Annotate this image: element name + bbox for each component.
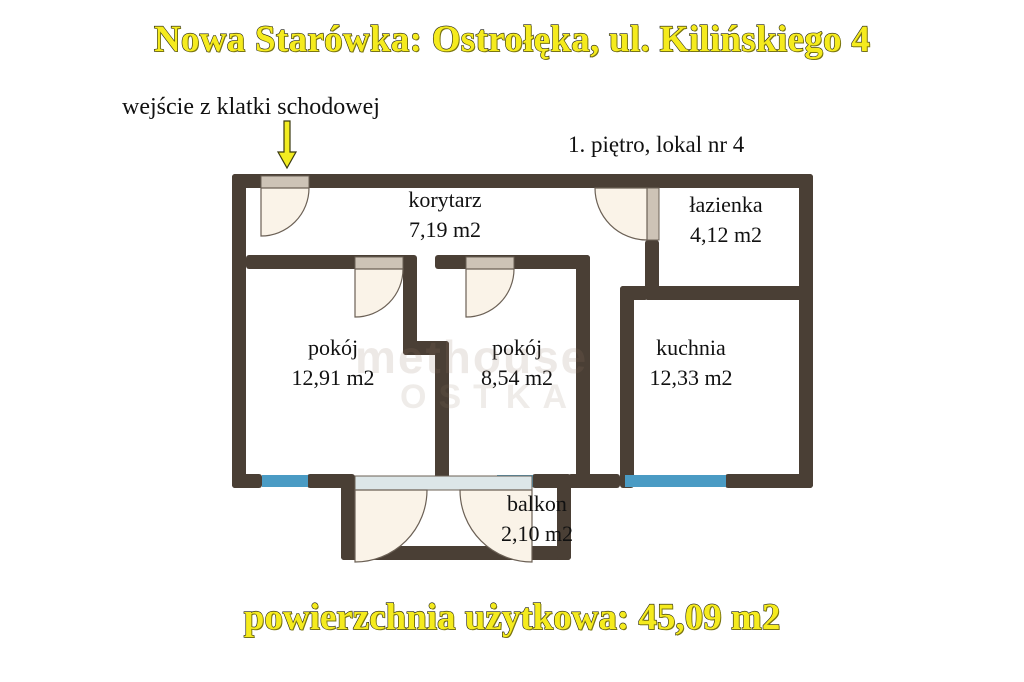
door-entrance	[261, 176, 309, 236]
total-area-title: powierzchnia użytkowa: 45,09 m2	[0, 596, 1024, 639]
door-pokoj2	[466, 257, 514, 317]
window-pokoj1	[262, 475, 308, 487]
door-pokoj1	[355, 257, 403, 317]
entrance-arrow-icon	[278, 121, 296, 168]
window-kuchnia	[625, 475, 726, 487]
floorplan-page: Nowa Starówka: Ostrołęka, ul. Kilińskieg…	[0, 0, 1024, 682]
floorplan-drawing	[0, 0, 1024, 682]
door-lazienka	[595, 188, 659, 240]
